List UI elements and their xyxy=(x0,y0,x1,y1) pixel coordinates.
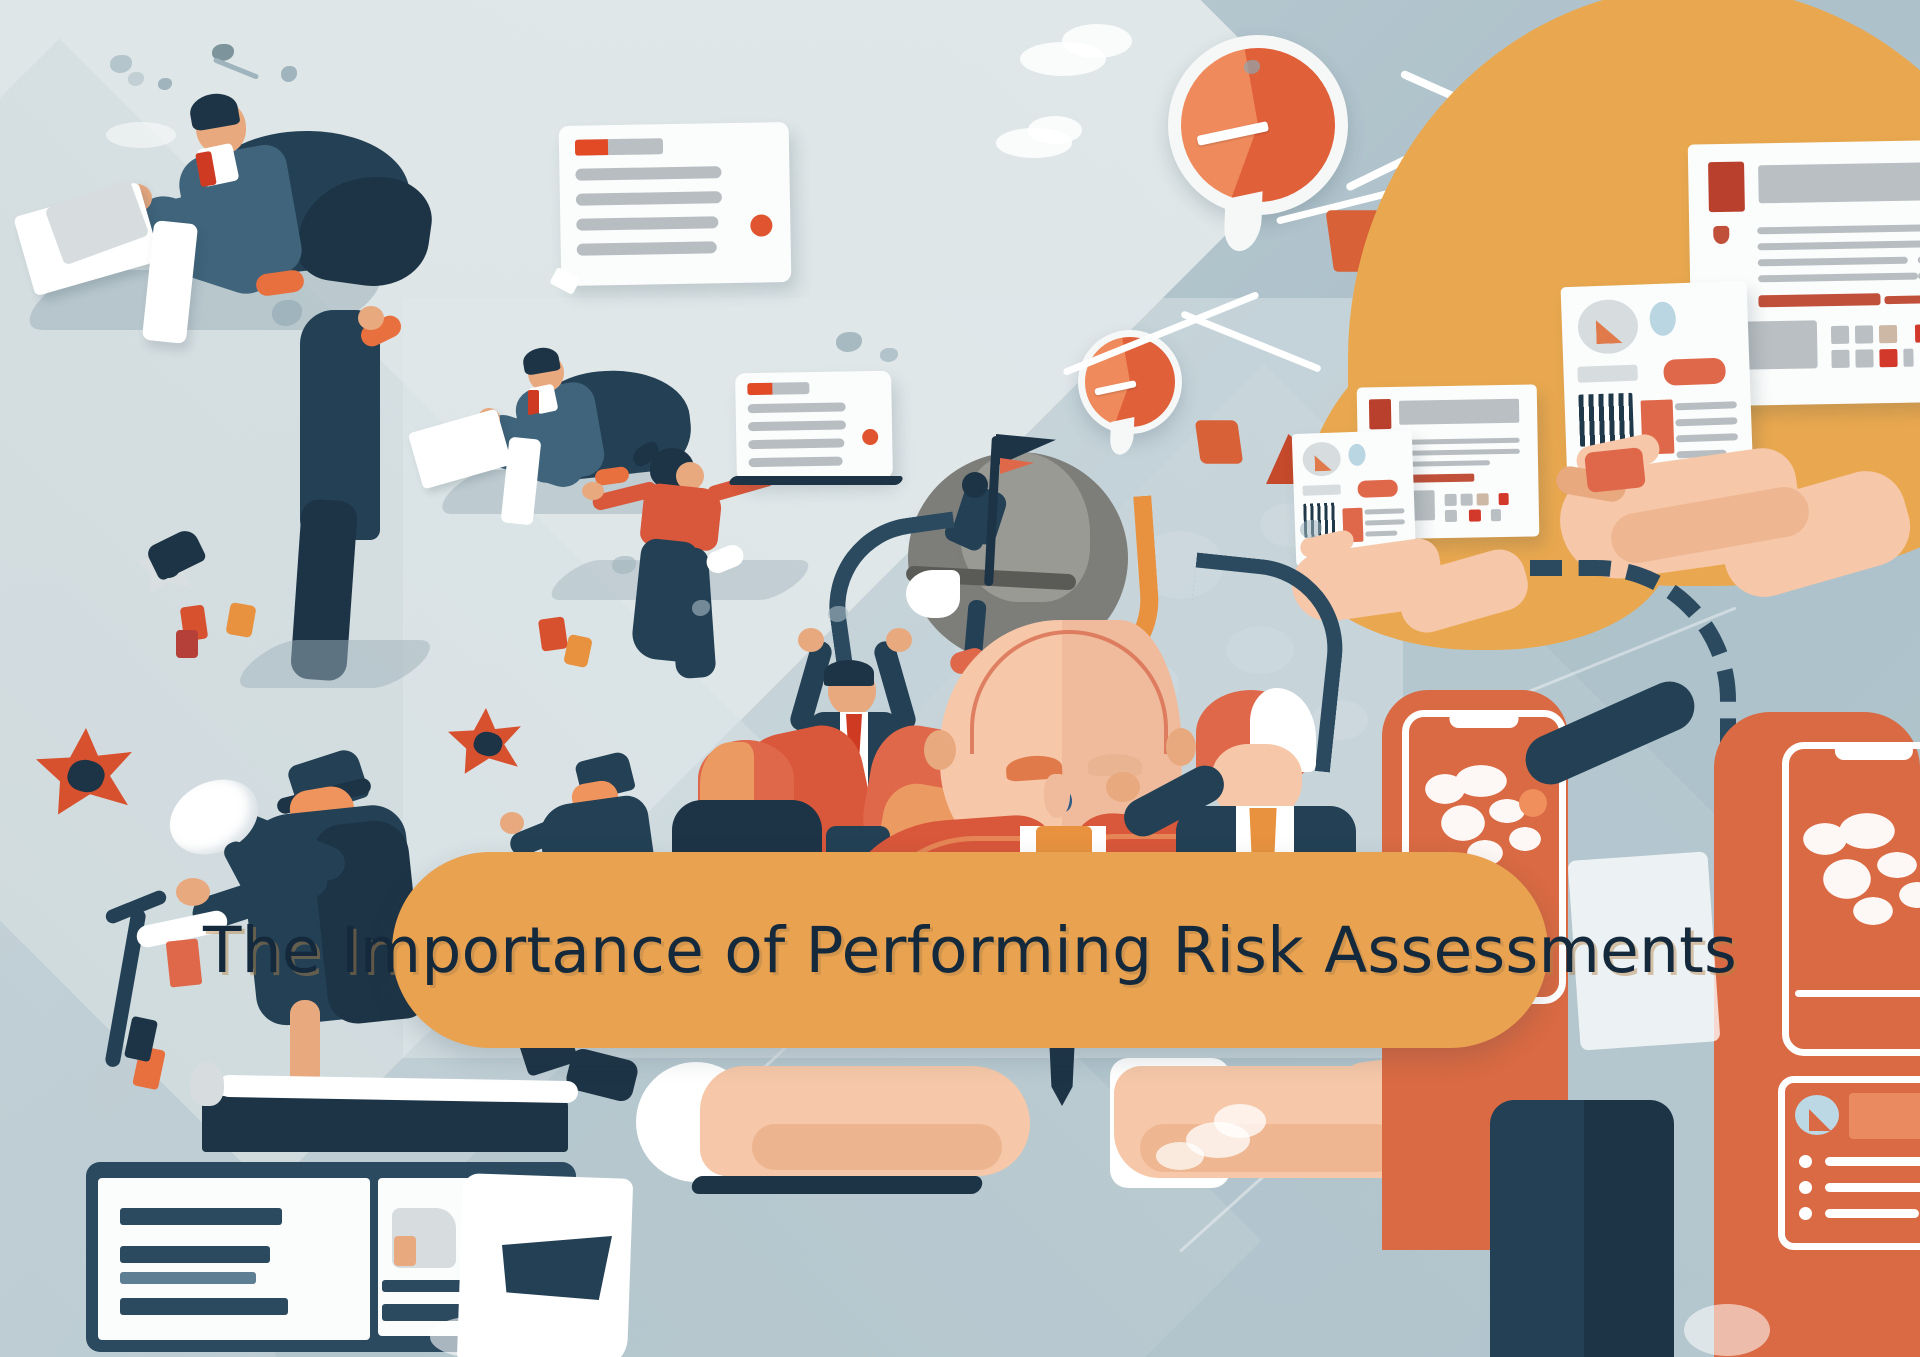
ear xyxy=(1166,728,1196,766)
sleeve-edge xyxy=(690,1176,984,1194)
world-map-silhouette xyxy=(1797,809,1920,939)
checklist-bullet xyxy=(1799,1207,1812,1220)
hand xyxy=(500,812,524,834)
report-title-bar xyxy=(1399,399,1519,425)
clipboard-text-line xyxy=(382,1280,466,1292)
card-text-line xyxy=(576,216,718,230)
document-card-small xyxy=(735,371,893,482)
clipboard-pen xyxy=(190,1062,224,1106)
figure-on-globe-head xyxy=(962,472,988,498)
chart-bubble xyxy=(1649,301,1676,336)
phone-frame-right xyxy=(1782,742,1920,1056)
card-text-line xyxy=(1365,531,1397,537)
checklist-line xyxy=(1825,1183,1920,1192)
cloud-puff xyxy=(1214,1104,1266,1138)
hand xyxy=(798,628,824,652)
phone-baseline xyxy=(1795,990,1920,997)
marker-small xyxy=(538,616,568,651)
hand-left-shade xyxy=(752,1124,1002,1170)
card-text-line xyxy=(748,402,846,413)
report-cell xyxy=(1491,509,1501,521)
hand xyxy=(176,878,210,906)
clipboard-mini-page xyxy=(502,1236,612,1300)
report-cell xyxy=(1445,510,1457,522)
report-badge-icon xyxy=(1713,226,1729,244)
right-figure-leg-shade xyxy=(1584,1100,1674,1357)
report-cell xyxy=(1445,494,1457,506)
card-text-line xyxy=(1365,519,1405,525)
report-line xyxy=(1757,224,1920,234)
report-cell-alert xyxy=(1499,493,1509,505)
report-logo xyxy=(1708,162,1745,213)
chart-bar-accent xyxy=(1357,479,1398,497)
cloud-puff xyxy=(1156,1142,1204,1170)
hand-report-accent xyxy=(1584,447,1646,493)
cloud-puff xyxy=(1028,116,1082,144)
nose xyxy=(1044,774,1070,818)
card-text-line xyxy=(1676,433,1738,442)
hand xyxy=(886,628,912,652)
cloud-puff xyxy=(430,1316,526,1357)
clipboard-text-line xyxy=(120,1298,288,1315)
checklist-bullet xyxy=(1799,1155,1812,1168)
report-cell xyxy=(1831,350,1849,368)
title-banner: The Importance of Performing Risk Assess… xyxy=(392,852,1548,1048)
marker-small xyxy=(225,602,256,638)
card-text-line xyxy=(575,166,721,181)
report-line xyxy=(1758,273,1918,283)
card-base-shadow xyxy=(728,476,905,485)
report-cell-alert xyxy=(1915,324,1920,342)
card-text-line xyxy=(1675,417,1737,426)
checklist-line xyxy=(1825,1209,1919,1218)
report-line xyxy=(1757,240,1920,250)
chart-bubble xyxy=(1348,444,1366,467)
checklist-bullet xyxy=(1799,1181,1812,1194)
card-text-line xyxy=(1364,508,1404,514)
report-cell xyxy=(1855,325,1873,343)
phone-notch xyxy=(1450,716,1519,728)
chart-bar xyxy=(1577,365,1638,383)
flag-marker xyxy=(1195,420,1244,464)
card-text-line xyxy=(749,457,843,468)
report-title-bar xyxy=(1758,162,1920,203)
card-text-line xyxy=(576,191,722,206)
report-line xyxy=(1758,257,1908,267)
report-cell xyxy=(1903,349,1913,367)
chart-donut xyxy=(1302,441,1341,476)
clipboard-text-line xyxy=(120,1272,256,1284)
report-line xyxy=(1398,449,1520,456)
clipboard-clip xyxy=(202,1096,568,1152)
hand-left xyxy=(582,482,604,500)
tie xyxy=(528,390,539,415)
clipboard-text-line xyxy=(120,1208,282,1225)
clipboard-icon-accent xyxy=(394,1236,416,1266)
report-highlight-bar xyxy=(1884,295,1920,304)
report-cell xyxy=(1879,325,1897,343)
cloud-puff xyxy=(1062,24,1132,58)
leg xyxy=(290,1000,320,1088)
report-cell-alert xyxy=(1469,509,1481,521)
chart-bar-accent xyxy=(1663,358,1726,386)
checklist-line xyxy=(1825,1157,1920,1166)
report-cell xyxy=(1477,493,1489,505)
report-cell xyxy=(1461,494,1473,506)
hand xyxy=(1106,772,1140,802)
report-cell xyxy=(1855,349,1873,367)
card-text-line xyxy=(1675,401,1737,410)
card-progress-bar xyxy=(575,138,663,156)
map-marker-glow xyxy=(1519,789,1547,817)
card-status-dot xyxy=(750,214,772,236)
card-progress-bar xyxy=(747,382,809,395)
report-highlight-bar xyxy=(1758,293,1880,307)
illustration-canvas: The Importance of Performing Risk Assess… xyxy=(0,0,1920,1357)
report-cell-alert xyxy=(1879,349,1897,367)
document-card-large xyxy=(559,122,792,286)
cloud-puff xyxy=(106,122,176,148)
marker-small xyxy=(176,630,198,658)
checklist-card-right xyxy=(1778,1076,1920,1250)
ear xyxy=(924,730,956,770)
checklist-header xyxy=(1849,1093,1920,1139)
card-text-line xyxy=(748,420,846,431)
chart-donut xyxy=(1577,299,1639,355)
clipboard-text-line xyxy=(120,1246,270,1263)
report-logo xyxy=(1369,399,1392,429)
page-title: The Importance of Performing Risk Assess… xyxy=(203,914,1737,987)
card-text-line xyxy=(748,438,844,449)
phone-notch xyxy=(1835,748,1913,760)
card-text-line xyxy=(577,241,717,255)
cloud-puff xyxy=(1684,1304,1770,1356)
hand xyxy=(358,306,384,330)
report-line xyxy=(1398,438,1520,445)
hair xyxy=(824,660,874,686)
chart-bar xyxy=(1303,484,1341,495)
scooter-flag xyxy=(166,938,203,987)
report-cell xyxy=(1831,326,1849,344)
card-status-dot xyxy=(862,429,878,445)
